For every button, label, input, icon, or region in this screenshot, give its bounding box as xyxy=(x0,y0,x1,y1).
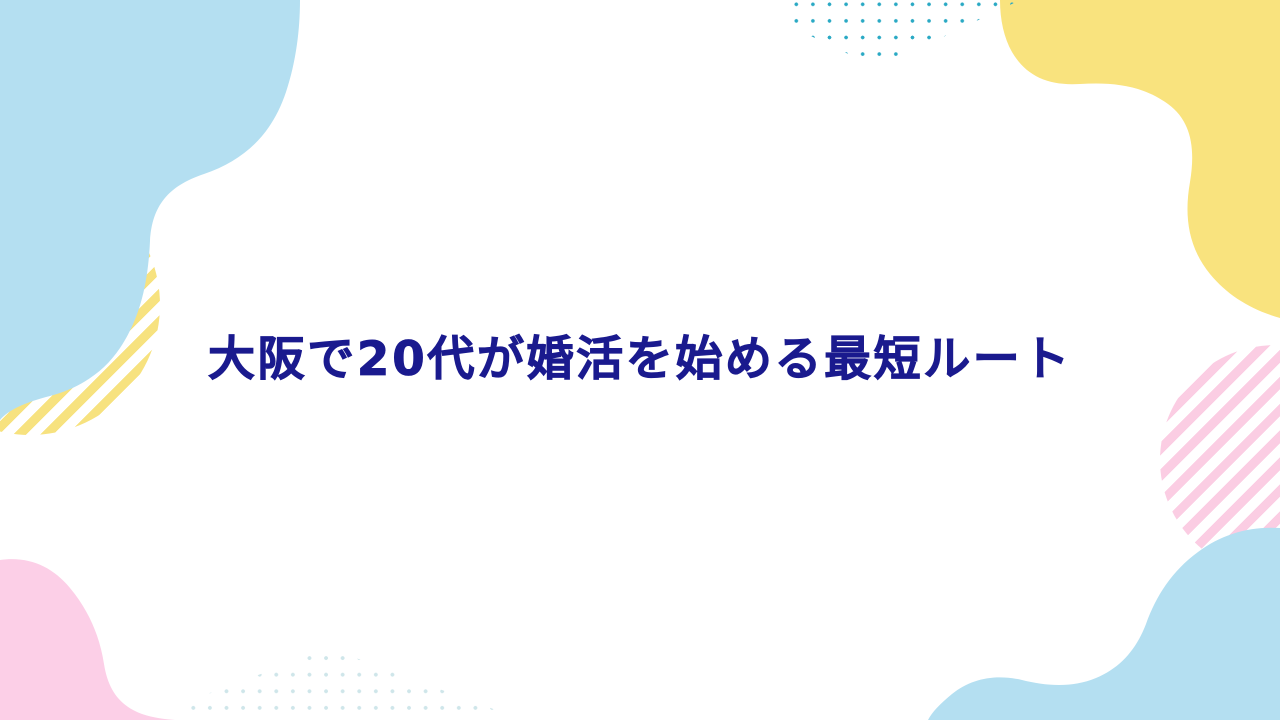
page-title: 大阪で20代が婚活を始める最短ルート xyxy=(208,328,1072,391)
title-container: 大阪で20代が婚活を始める最短ルート xyxy=(0,0,1280,720)
eyecatch-canvas: 大阪で20代が婚活を始める最短ルート xyxy=(0,0,1280,720)
